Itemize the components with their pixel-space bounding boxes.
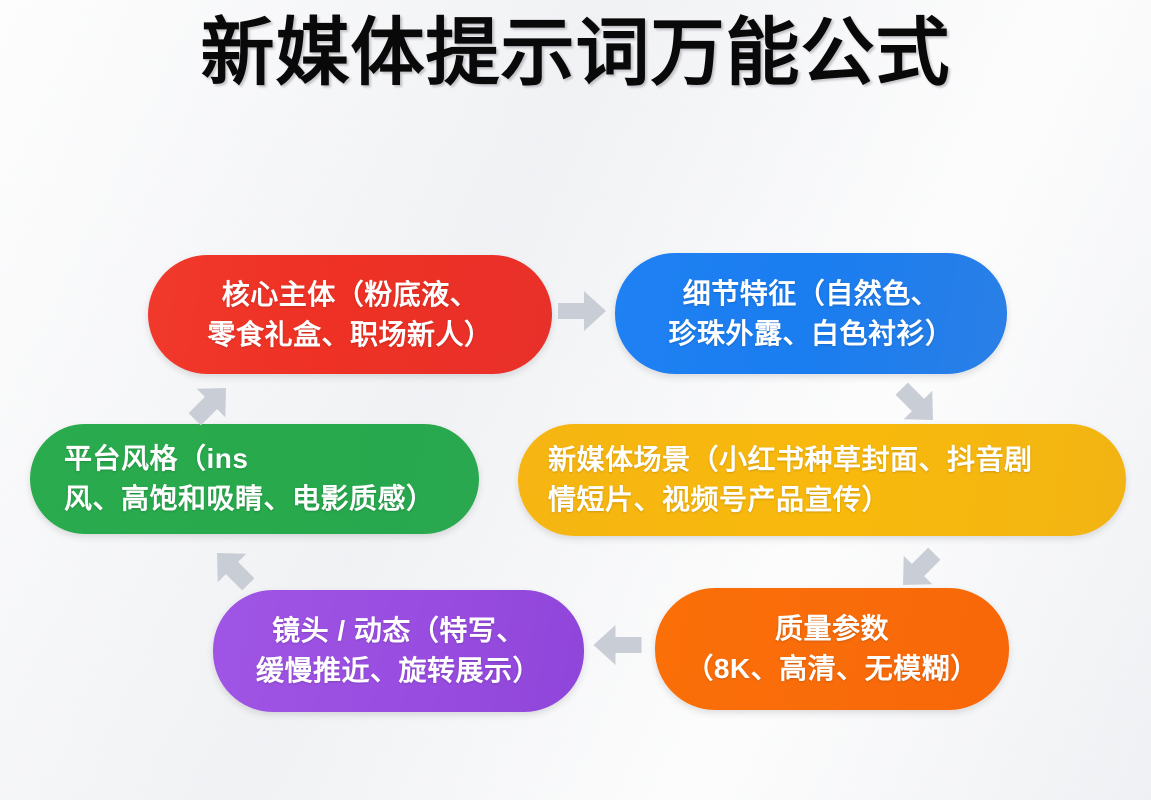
arrow-right-icon (556, 288, 608, 334)
node-new-media-scene-line2: 情短片、视频号产品宣传） (548, 480, 1096, 520)
node-core-subject[interactable]: 核心主体（粉底液、 零食礼盒、职场新人） (148, 255, 552, 374)
node-camera-motion-line2: 缓慢推近、旋转展示） (239, 651, 558, 691)
node-platform-style-text: 平台风格（ins 风、高饱和吸睛、电影质感） (64, 439, 445, 519)
page-title: 新媒体提示词万能公式 (0, 8, 1151, 98)
node-quality-params[interactable]: 质量参数 （8K、高清、无模糊） (655, 588, 1009, 710)
arrow-down-left-icon (893, 545, 943, 595)
arrow-left-icon (590, 622, 645, 668)
node-detail-features[interactable]: 细节特征（自然色、 珍珠外露、白色衬衫） (615, 253, 1007, 374)
node-core-subject-text: 核心主体（粉底液、 零食礼盒、职场新人） (170, 275, 530, 355)
node-camera-motion-text: 镜头 / 动态（特写、 缓慢推近、旋转展示） (239, 611, 558, 691)
node-platform-style-line1: 平台风格（ins (64, 439, 445, 479)
node-core-subject-line1: 核心主体（粉底液、 (170, 275, 530, 315)
node-quality-params-line1: 质量参数 (675, 609, 989, 649)
diagram-canvas: 新媒体提示词万能公式 核心主体（粉底液、 零食礼盒、职场新人） 细节特征（自然色… (0, 0, 1151, 800)
node-quality-params-line2: （8K、高清、无模糊） (675, 649, 989, 689)
node-new-media-scene[interactable]: 新媒体场景（小红书种草封面、抖音剧 情短片、视频号产品宣传） (518, 424, 1126, 536)
node-new-media-scene-text: 新媒体场景（小红书种草封面、抖音剧 情短片、视频号产品宣传） (548, 440, 1096, 520)
node-detail-features-line1: 细节特征（自然色、 (641, 274, 981, 314)
node-platform-style[interactable]: 平台风格（ins 风、高饱和吸睛、电影质感） (30, 424, 479, 534)
node-new-media-scene-line1: 新媒体场景（小红书种草封面、抖音剧 (548, 440, 1096, 480)
node-detail-features-text: 细节特征（自然色、 珍珠外露、白色衬衫） (641, 274, 981, 354)
arrow-up-left-icon (207, 543, 257, 593)
node-core-subject-line2: 零食礼盒、职场新人） (170, 315, 530, 355)
node-detail-features-line2: 珍珠外露、白色衬衫） (641, 314, 981, 354)
node-platform-style-line2: 风、高饱和吸睛、电影质感） (64, 479, 445, 519)
node-camera-motion-line1: 镜头 / 动态（特写、 (239, 611, 558, 651)
node-quality-params-text: 质量参数 （8K、高清、无模糊） (675, 609, 989, 689)
arrow-up-right-icon (186, 378, 236, 428)
arrow-down-right-icon (893, 380, 943, 430)
node-camera-motion[interactable]: 镜头 / 动态（特写、 缓慢推近、旋转展示） (213, 590, 584, 712)
